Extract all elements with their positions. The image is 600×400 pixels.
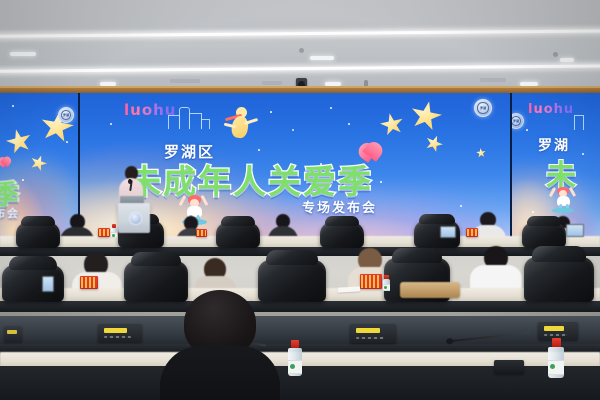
desk-row-2-front bbox=[0, 301, 600, 312]
mic-unit-buttons[interactable] bbox=[104, 336, 130, 339]
water-bottle bbox=[383, 275, 390, 291]
microphone-head-icon bbox=[128, 179, 132, 184]
air-vent bbox=[480, 78, 506, 82]
chair bbox=[2, 256, 64, 302]
chair bbox=[16, 216, 60, 248]
mic-unit-display bbox=[356, 328, 380, 333]
sprinkler-icon bbox=[299, 48, 304, 53]
water-bottle bbox=[288, 340, 302, 376]
downlight-icon bbox=[560, 58, 574, 62]
mic-unit-buttons[interactable] bbox=[356, 337, 384, 340]
microphone-control-unit bbox=[4, 326, 22, 342]
mic-unit-buttons[interactable] bbox=[544, 334, 568, 337]
foreground-attendee bbox=[160, 290, 280, 400]
paper-bag bbox=[400, 282, 460, 298]
mic-unit-display bbox=[544, 326, 565, 331]
downlight-icon bbox=[10, 52, 36, 56]
microphone-control-unit bbox=[98, 324, 142, 342]
tablet-screen bbox=[42, 276, 54, 292]
name-card bbox=[466, 228, 478, 237]
ceiling bbox=[0, 0, 600, 88]
air-vent bbox=[262, 81, 282, 85]
chair bbox=[522, 216, 566, 248]
conference-handset[interactable] bbox=[494, 360, 524, 374]
water-bottle bbox=[111, 224, 117, 238]
chair bbox=[524, 246, 594, 302]
mic-unit-display bbox=[104, 328, 127, 333]
chair bbox=[216, 216, 260, 248]
chair bbox=[320, 216, 364, 248]
ceiling-panel-row-1 bbox=[0, 0, 600, 30]
wall-wood-highlight bbox=[0, 86, 600, 88]
mic-unit-display bbox=[7, 330, 18, 334]
name-card bbox=[360, 274, 382, 289]
air-vent bbox=[170, 79, 200, 83]
conference-hall-photo: 罗湖 季 布会 luohu 罗湖 bbox=[0, 0, 600, 400]
tablet-screen bbox=[440, 226, 456, 238]
podium-emblem-icon bbox=[129, 212, 142, 225]
sprinkler-icon bbox=[553, 52, 558, 57]
name-card bbox=[196, 229, 207, 237]
microphone-control-unit bbox=[350, 324, 396, 343]
podium bbox=[118, 203, 150, 233]
downlight-icon bbox=[310, 56, 334, 60]
name-card bbox=[80, 276, 98, 289]
tablet-screen bbox=[566, 224, 584, 237]
water-bottle bbox=[548, 338, 564, 378]
name-card bbox=[98, 228, 110, 237]
